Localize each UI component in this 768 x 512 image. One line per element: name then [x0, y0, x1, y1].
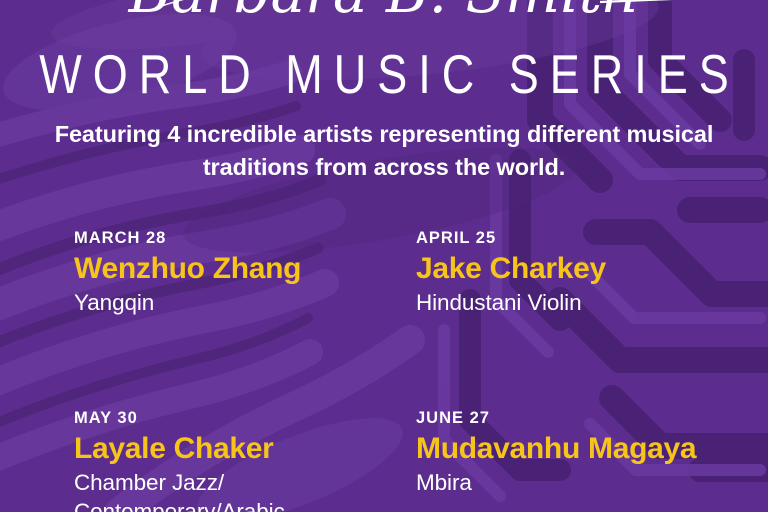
artist-entry-mudavanhu-magaya: JUNE 27 Mudavanhu Magaya Mbira	[404, 408, 734, 512]
artist-entry-layale-chaker: MAY 30 Layale Chaker Chamber Jazz/ Conte…	[74, 408, 404, 512]
artist-row-1: MARCH 28 Wenzhuo Zhang Yangqin APRIL 25 …	[74, 228, 734, 317]
artist-name: Wenzhuo Zhang	[74, 251, 404, 286]
poster-subtitle: Featuring 4 incredible artists represent…	[34, 118, 734, 184]
artist-instrument: Hindustani Violin	[416, 288, 734, 317]
artist-lineup: MARCH 28 Wenzhuo Zhang Yangqin APRIL 25 …	[74, 228, 734, 512]
artist-entry-wenzhuo-zhang: MARCH 28 Wenzhuo Zhang Yangqin	[74, 228, 404, 317]
artist-instrument: Chamber Jazz/ Contemporary/Arabic	[74, 468, 404, 512]
script-name-barbara-b-smith: Barbara B. Smith	[0, 0, 768, 28]
artist-instrument: Mbira	[416, 468, 734, 497]
artist-date: JUNE 27	[416, 408, 734, 428]
artist-row-2: MAY 30 Layale Chaker Chamber Jazz/ Conte…	[74, 408, 734, 512]
script-flourish-stroke	[600, 0, 742, 2]
world-music-series-poster: Barbara B. Smith WORLD MUSIC SERIES Feat…	[0, 0, 768, 512]
artist-name: Layale Chaker	[74, 431, 404, 466]
artist-name: Mudavanhu Magaya	[416, 431, 734, 466]
script-name-text: Barbara B. Smith	[128, 0, 640, 26]
artist-name: Jake Charkey	[416, 251, 734, 286]
artist-date: MARCH 28	[74, 228, 404, 248]
artist-date: APRIL 25	[416, 228, 734, 248]
artist-date: MAY 30	[74, 408, 404, 428]
artist-instrument: Yangqin	[74, 288, 404, 317]
page-title: WORLD MUSIC SERIES	[0, 44, 768, 105]
artist-entry-jake-charkey: APRIL 25 Jake Charkey Hindustani Violin	[404, 228, 734, 317]
